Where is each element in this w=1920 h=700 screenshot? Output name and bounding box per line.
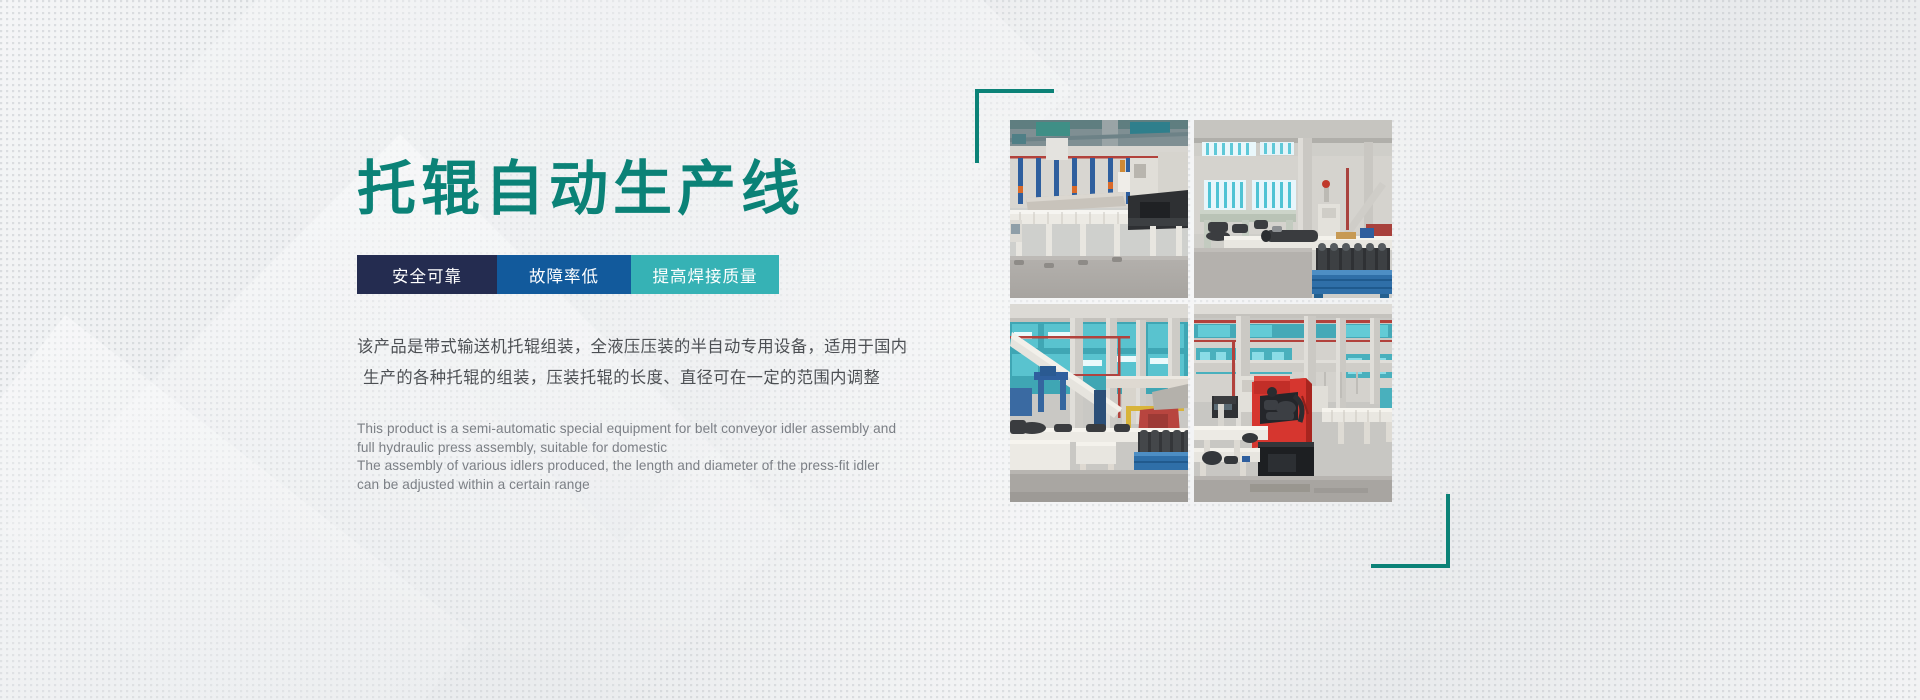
decor-corner-bracket-bottom-right [1371, 494, 1450, 568]
photo-workshop-interior[interactable] [1010, 304, 1188, 502]
photo-roller-stock[interactable] [1194, 120, 1392, 298]
description-english-line-1: This product is a semi-automatic special… [357, 420, 917, 439]
photo-conveyor-line[interactable] [1010, 120, 1188, 298]
page-title: 托辊自动生产线 [357, 160, 957, 219]
photo-grid [1010, 120, 1392, 502]
status-badge-improved-weld-quality: 提高焊接质量 [631, 255, 779, 294]
product-photo-gallery [1010, 98, 1410, 528]
description-chinese-line-2: 生产的各种托辊的组装，压装托辊的长度、直径可在一定的范围内调整 [357, 363, 917, 394]
decor-vignette [0, 0, 1920, 700]
banner-text-column: 托辊自动生产线 安全可靠 故障率低 提高焊接质量 该产品是带式输送机托辊组装，全… [357, 160, 957, 494]
status-badge-safe-reliable: 安全可靠 [357, 255, 497, 294]
photo-red-press-machine[interactable] [1194, 304, 1392, 502]
description-english-line-3: The assembly of various idlers produced,… [357, 457, 917, 476]
description-english: This product is a semi-automatic special… [357, 420, 917, 494]
description-chinese: 该产品是带式输送机托辊组装，全液压压装的半自动专用设备，适用于国内 生产的各种托… [357, 332, 917, 394]
status-badge-low-failure-rate: 故障率低 [497, 255, 631, 294]
feature-badge-row: 安全可靠 故障率低 提高焊接质量 [357, 255, 957, 294]
description-english-line-4: can be adjusted within a certain range [357, 476, 917, 495]
product-banner: 托辊自动生产线 安全可靠 故障率低 提高焊接质量 该产品是带式输送机托辊组装，全… [0, 0, 1920, 700]
description-chinese-line-1: 该产品是带式输送机托辊组装，全液压压装的半自动专用设备，适用于国内 [357, 332, 917, 363]
description-english-line-2: full hydraulic press assembly, suitable … [357, 439, 917, 458]
